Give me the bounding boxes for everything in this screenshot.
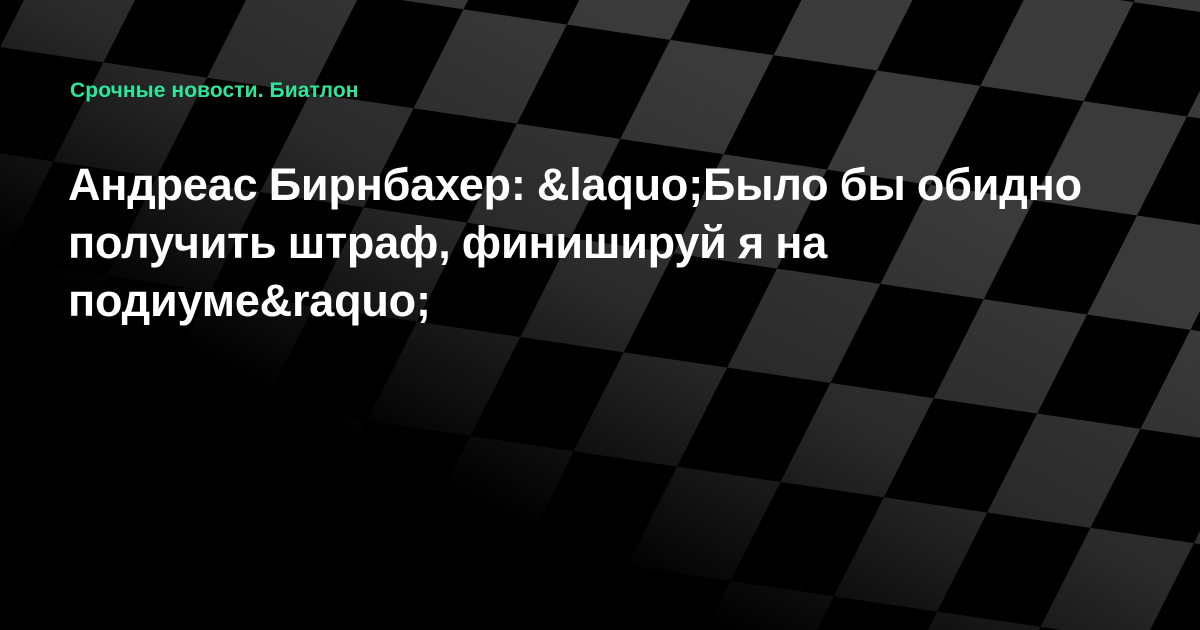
category-kicker: Срочные новости. Биатлон [70, 78, 359, 103]
social-share-card: Срочные новости. Биатлон Андреас Бирнбах… [0, 0, 1200, 630]
headline-title: Андреас Бирнбахер: &laquo;Было бы обидно… [68, 156, 1108, 330]
